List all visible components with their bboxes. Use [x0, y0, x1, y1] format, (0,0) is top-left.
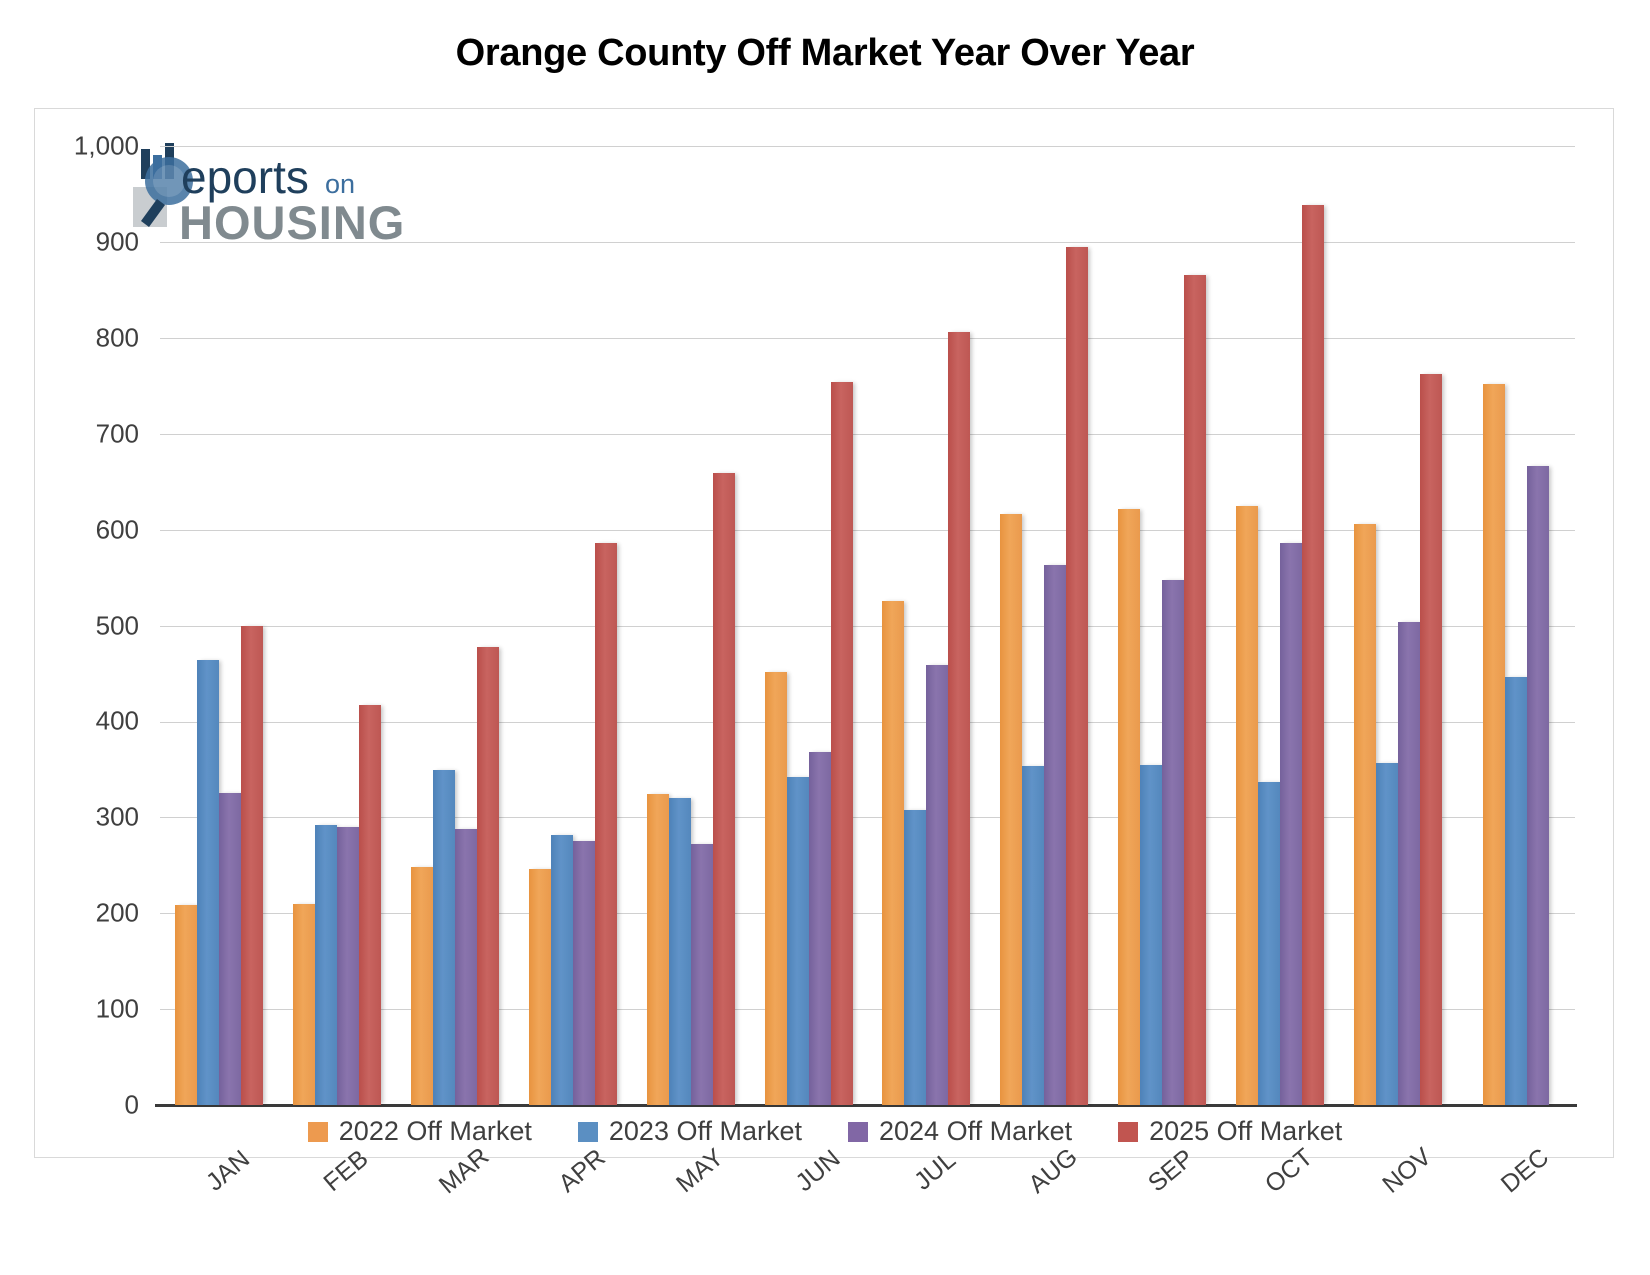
bar-dec-2024[interactable] — [1527, 466, 1549, 1105]
y-tick-700: 700 — [96, 419, 139, 450]
legend-swatch-icon — [308, 1122, 328, 1142]
y-tick-900: 900 — [96, 227, 139, 258]
x-tick-aug: AUG — [1024, 1143, 1084, 1200]
bar-group-jun — [750, 146, 868, 1105]
legend-label: 2022 Off Market — [339, 1116, 532, 1147]
legend-swatch-icon — [848, 1122, 868, 1142]
x-label-cell: JAN — [160, 1154, 278, 1244]
bar-dec-2022[interactable] — [1483, 384, 1505, 1105]
legend-swatch-icon — [1118, 1122, 1138, 1142]
x-tick-feb: FEB — [318, 1144, 374, 1197]
y-tick-800: 800 — [96, 323, 139, 354]
x-label-cell: SEP — [1103, 1154, 1221, 1244]
y-tick-300: 300 — [96, 802, 139, 833]
bar-oct-2022[interactable] — [1236, 506, 1258, 1105]
x-label-cell: AUG — [985, 1154, 1103, 1244]
bar-apr-2024[interactable] — [573, 841, 595, 1105]
x-tick-sep: SEP — [1143, 1144, 1200, 1198]
bar-feb-2022[interactable] — [293, 904, 315, 1105]
x-tick-jan: JAN — [201, 1145, 256, 1198]
y-tick-500: 500 — [96, 611, 139, 642]
legend-item-2023[interactable]: 2023 Off Market — [578, 1116, 802, 1147]
bar-oct-2023[interactable] — [1258, 782, 1280, 1105]
bar-feb-2025[interactable] — [359, 705, 381, 1105]
bar-nov-2024[interactable] — [1398, 622, 1420, 1105]
bar-mar-2024[interactable] — [455, 829, 477, 1105]
legend-item-2024[interactable]: 2024 Off Market — [848, 1116, 1072, 1147]
x-label-cell: MAY — [632, 1154, 750, 1244]
bar-group-oct — [1221, 146, 1339, 1105]
legend-label: 2023 Off Market — [609, 1116, 802, 1147]
bar-jan-2023[interactable] — [197, 660, 219, 1105]
bar-feb-2023[interactable] — [315, 825, 337, 1105]
x-label-cell: JUN — [750, 1154, 868, 1244]
legend-label: 2024 Off Market — [879, 1116, 1072, 1147]
bar-group-aug — [985, 146, 1103, 1105]
x-label-cell: NOV — [1339, 1154, 1457, 1244]
bar-apr-2022[interactable] — [529, 869, 551, 1105]
bar-jan-2024[interactable] — [219, 793, 241, 1105]
bar-group-may — [632, 146, 750, 1105]
bar-aug-2024[interactable] — [1044, 565, 1066, 1105]
x-label-cell: APR — [514, 1154, 632, 1244]
bar-mar-2023[interactable] — [433, 770, 455, 1105]
bar-jun-2025[interactable] — [831, 382, 853, 1105]
bar-may-2023[interactable] — [669, 798, 691, 1105]
bar-may-2022[interactable] — [647, 794, 669, 1105]
y-axis-labels: 0 100 200 300 400 500 600 700 800 900 1,… — [35, 109, 155, 1159]
x-label-cell: FEB — [278, 1154, 396, 1244]
x-tick-oct: OCT — [1260, 1143, 1319, 1199]
legend-item-2022[interactable]: 2022 Off Market — [308, 1116, 532, 1147]
y-tick-100: 100 — [96, 994, 139, 1025]
bar-may-2024[interactable] — [691, 844, 713, 1105]
bar-oct-2024[interactable] — [1280, 543, 1302, 1105]
x-tick-may: MAY — [671, 1143, 730, 1199]
x-label-cell: OCT — [1221, 1154, 1339, 1244]
bar-group-feb — [278, 146, 396, 1105]
bar-aug-2022[interactable] — [1000, 514, 1022, 1105]
bar-group-sep — [1103, 146, 1221, 1105]
bar-jun-2022[interactable] — [765, 672, 787, 1105]
bar-nov-2022[interactable] — [1354, 524, 1376, 1105]
y-tick-200: 200 — [96, 898, 139, 929]
chart-page: Orange County Off Market Year Over Year … — [0, 0, 1650, 1275]
y-tick-1000: 1,000 — [74, 131, 139, 162]
bar-nov-2023[interactable] — [1376, 763, 1398, 1105]
bar-aug-2025[interactable] — [1066, 247, 1088, 1105]
bar-sep-2022[interactable] — [1118, 509, 1140, 1105]
bar-apr-2025[interactable] — [595, 543, 617, 1105]
bar-mar-2025[interactable] — [477, 647, 499, 1105]
page-title: Orange County Off Market Year Over Year — [0, 32, 1650, 75]
bar-jun-2024[interactable] — [809, 752, 831, 1105]
y-tick-600: 600 — [96, 515, 139, 546]
bar-feb-2024[interactable] — [337, 827, 359, 1105]
bar-group-mar — [396, 146, 514, 1105]
x-tick-dec: DEC — [1496, 1143, 1555, 1199]
bar-group-apr — [514, 146, 632, 1105]
bar-jul-2023[interactable] — [904, 810, 926, 1105]
bar-sep-2023[interactable] — [1140, 765, 1162, 1105]
bar-group-dec — [1457, 146, 1575, 1105]
bar-oct-2025[interactable] — [1302, 205, 1324, 1105]
legend-item-2025[interactable]: 2025 Off Market — [1118, 1116, 1342, 1147]
x-label-cell: MAR — [396, 1154, 514, 1244]
legend-swatch-icon — [578, 1122, 598, 1142]
bar-jul-2024[interactable] — [926, 665, 948, 1105]
x-label-cell: JUL — [868, 1154, 986, 1244]
bar-nov-2025[interactable] — [1420, 374, 1442, 1105]
x-axis-labels: JANFEBMARAPRMAYJUNJULAUGSEPOCTNOVDEC — [160, 1154, 1575, 1244]
x-tick-jun: JUN — [790, 1144, 846, 1197]
x-tick-jul: JUL — [909, 1146, 962, 1197]
bar-aug-2023[interactable] — [1022, 766, 1044, 1105]
bar-jan-2025[interactable] — [241, 626, 263, 1105]
x-tick-mar: MAR — [434, 1142, 495, 1200]
x-tick-apr: APR — [553, 1143, 611, 1198]
bar-sep-2025[interactable] — [1184, 275, 1206, 1105]
bar-apr-2023[interactable] — [551, 835, 573, 1105]
y-tick-400: 400 — [96, 706, 139, 737]
bar-groups — [160, 146, 1575, 1105]
bar-group-jan — [160, 146, 278, 1105]
chart-legend: 2022 Off Market2023 Off Market2024 Off M… — [35, 1116, 1615, 1147]
bar-mar-2022[interactable] — [411, 867, 433, 1105]
bar-group-jul — [868, 146, 986, 1105]
bar-sep-2024[interactable] — [1162, 580, 1184, 1105]
bar-group-nov — [1339, 146, 1457, 1105]
x-tick-nov: NOV — [1377, 1143, 1437, 1200]
bar-dec-2023[interactable] — [1505, 677, 1527, 1105]
legend-label: 2025 Off Market — [1149, 1116, 1342, 1147]
chart-frame: eports on HOUSING 0 100 200 300 400 500 … — [34, 108, 1614, 1158]
bar-jan-2022[interactable] — [175, 905, 197, 1105]
plot-area — [160, 146, 1575, 1105]
bar-jul-2022[interactable] — [882, 601, 904, 1105]
bar-may-2025[interactable] — [713, 473, 735, 1105]
bar-jun-2023[interactable] — [787, 777, 809, 1105]
x-label-cell: DEC — [1457, 1154, 1575, 1244]
bar-jul-2025[interactable] — [948, 332, 970, 1105]
